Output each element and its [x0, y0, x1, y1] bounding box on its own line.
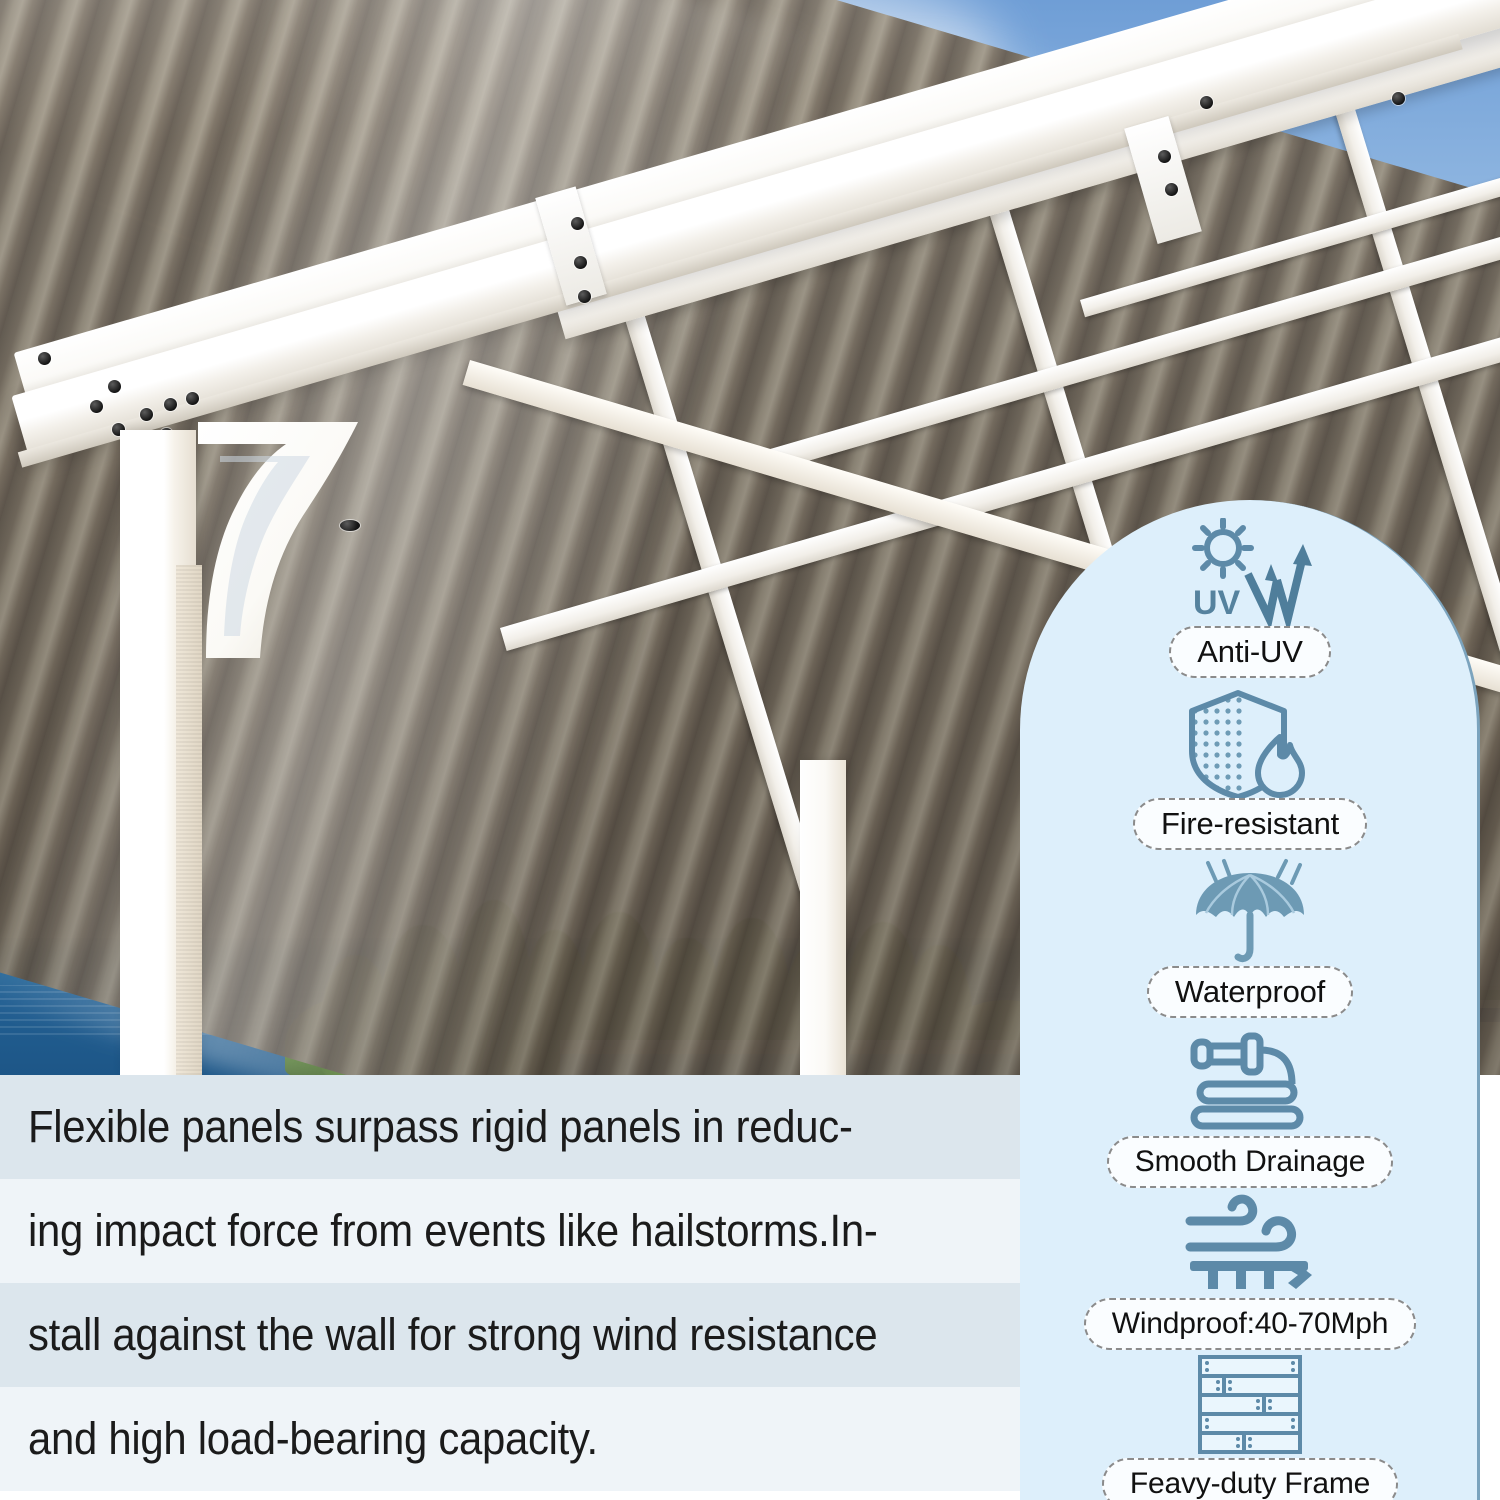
wind-gust-fence-icon: [1178, 1190, 1322, 1298]
description-line: stall against the wall for strong wind r…: [0, 1283, 1020, 1387]
bolt: [571, 217, 584, 230]
bolt: [1392, 92, 1405, 105]
feature-pill-fire-resistant[interactable]: Fire-resistant: [1133, 798, 1367, 850]
bolt: [1200, 96, 1213, 109]
decorative-bracket: [190, 400, 390, 660]
umbrella-rain-icon: [1180, 858, 1320, 966]
anti-uv-sun-arrows-icon: UV: [1185, 518, 1315, 626]
description-line-text: ing impact force from events like hailst…: [28, 1205, 877, 1257]
shield-flame-icon: [1180, 690, 1320, 798]
bolt: [38, 352, 51, 365]
feature-label: Smooth Drainage: [1135, 1145, 1365, 1179]
feature-item-windproof[interactable]: Windproof:40-70Mph: [1020, 1190, 1480, 1350]
feature-label: Windproof:40-70Mph: [1112, 1307, 1389, 1341]
feature-item-heavy-duty-frame[interactable]: Feavy-duty Frame: [1020, 1350, 1480, 1500]
feature-item-smooth-drainage[interactable]: Smooth Drainage: [1020, 1028, 1480, 1188]
description-line-text: stall against the wall for strong wind r…: [28, 1309, 877, 1361]
bolt: [1165, 183, 1178, 196]
description-line: and high load-bearing capacity.: [0, 1387, 1020, 1491]
feature-pill-waterproof[interactable]: Waterproof: [1147, 966, 1353, 1018]
feature-item-fire-resistant[interactable]: Fire-resistant: [1020, 690, 1480, 850]
feature-item-waterproof[interactable]: Waterproof: [1020, 858, 1480, 1018]
feature-label: Waterproof: [1175, 974, 1325, 1010]
description-line: Flexible panels surpass rigid panels in …: [0, 1075, 1020, 1179]
hose-faucet-icon: [1180, 1028, 1320, 1136]
bolt: [578, 290, 591, 303]
bolt: [140, 408, 153, 421]
bolt: [164, 398, 177, 411]
frame-grid-icon: [1190, 1350, 1310, 1458]
bolt: [1158, 150, 1171, 163]
bolt: [108, 380, 121, 393]
feature-pill-heavy-duty-frame[interactable]: Feavy-duty Frame: [1102, 1458, 1398, 1500]
description-line-text: and high load-bearing capacity.: [28, 1413, 598, 1465]
bolt: [574, 256, 587, 269]
support-post-right: [800, 760, 846, 1075]
description-line-text: Flexible panels surpass rigid panels in …: [28, 1101, 853, 1153]
feature-label: Fire-resistant: [1161, 806, 1339, 842]
feature-highlights-panel: UV Anti-UV: [1020, 500, 1480, 1500]
feature-item-anti-uv[interactable]: UV Anti-UV: [1020, 518, 1480, 678]
feature-pill-smooth-drainage[interactable]: Smooth Drainage: [1107, 1136, 1393, 1188]
svg-text:UV: UV: [1193, 584, 1241, 622]
product-marketing-image: Flexible panels surpass rigid panels in …: [0, 0, 1500, 1500]
feature-label: Feavy-duty Frame: [1130, 1467, 1370, 1500]
bolt: [90, 400, 103, 413]
feature-pill-windproof[interactable]: Windproof:40-70Mph: [1084, 1298, 1417, 1350]
feature-label: Anti-UV: [1197, 634, 1302, 670]
feature-pill-anti-uv[interactable]: Anti-UV: [1169, 626, 1330, 678]
description-line: ing impact force from events like hailst…: [0, 1179, 1020, 1283]
